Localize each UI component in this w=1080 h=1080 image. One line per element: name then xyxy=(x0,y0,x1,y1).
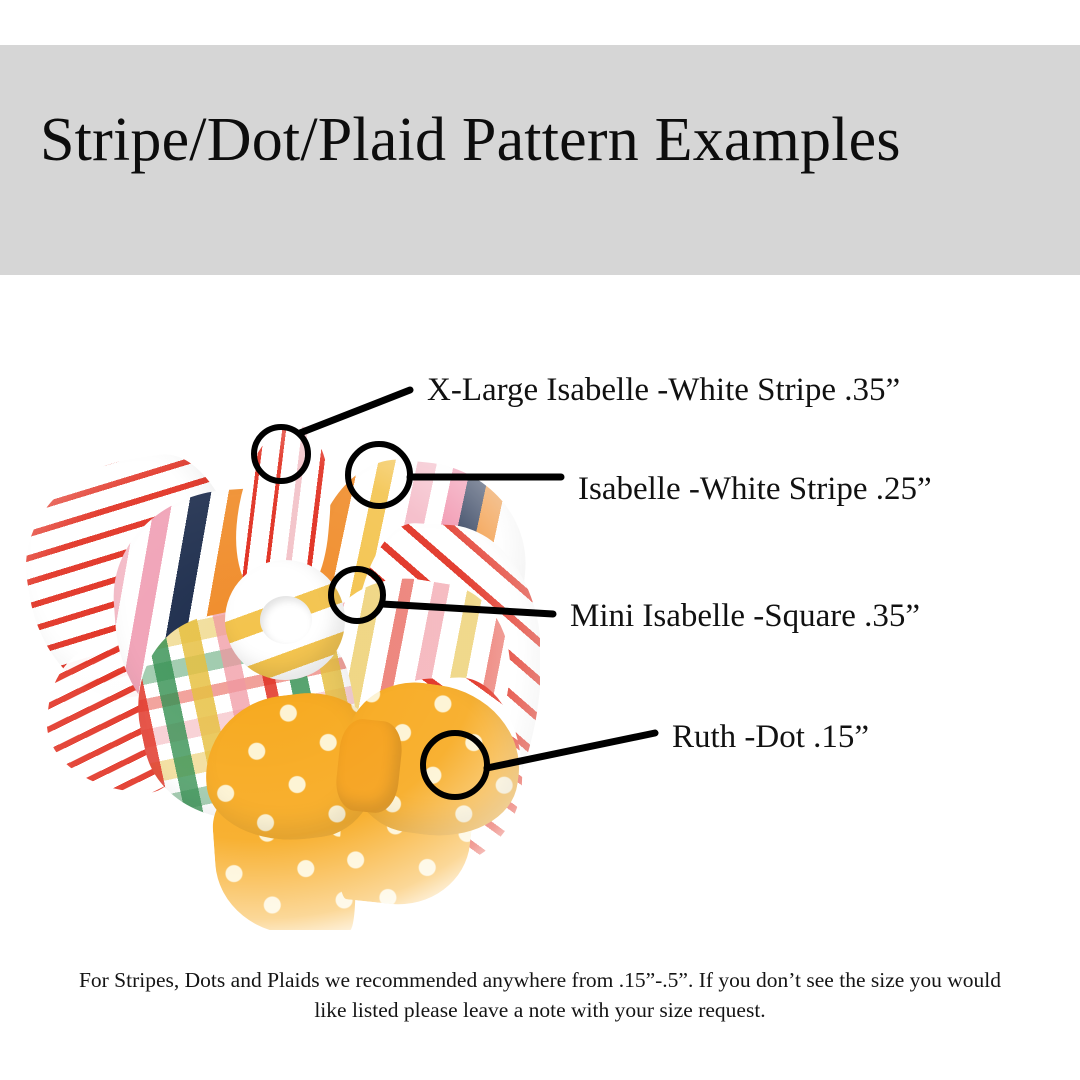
callout-leader-line-1 xyxy=(300,390,410,433)
callout-label-mini-isabelle: Mini Isabelle -Square .35” xyxy=(570,597,920,635)
poster-canvas: Stripe/Dot/Plaid Pattern Examples X-Larg… xyxy=(0,0,1080,1080)
callout-label-x-large-isabelle: X-Large Isabelle -White Stripe .35” xyxy=(427,371,900,409)
callout-label-ruth-dot: Ruth -Dot .15” xyxy=(672,718,869,756)
callout-leader-line-3 xyxy=(382,604,553,614)
callout-label-isabelle: Isabelle -White Stripe .25” xyxy=(578,470,932,508)
callout-circle-3 xyxy=(331,569,383,621)
callout-leader-line-4 xyxy=(487,733,655,768)
callout-circle-4 xyxy=(423,733,487,797)
footer-note: For Stripes, Dots and Plaids we recommen… xyxy=(70,965,1010,1025)
callout-circle-1 xyxy=(254,427,308,481)
callout-circle-2 xyxy=(348,444,410,506)
callout-overlay xyxy=(0,0,1080,1080)
